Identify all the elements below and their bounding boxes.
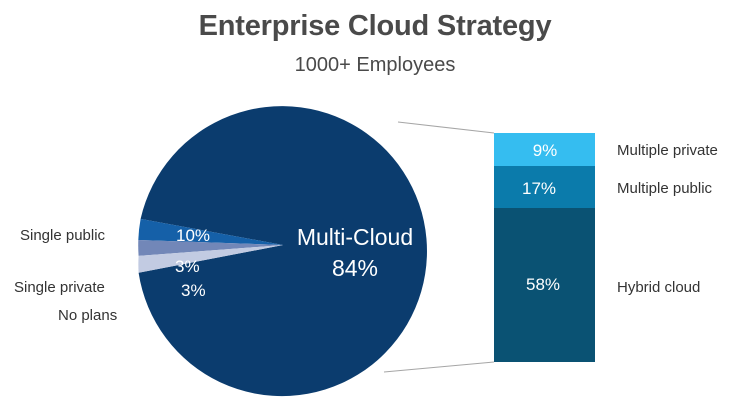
- pie-chart: Multi-Cloud 84% 10% 3% 3%: [138, 106, 427, 396]
- pie-outside-labels: Single public Single private No plans: [14, 227, 117, 324]
- leader-line-top: [398, 122, 494, 133]
- pie-value-single-private: 3%: [175, 257, 200, 276]
- breakout-stacked-bar: 9% 17% 58%: [494, 133, 595, 362]
- pie-center-label: Multi-Cloud: [297, 224, 413, 250]
- bar-value-multiple-private: 9%: [533, 141, 558, 160]
- bar-value-multiple-public: 17%: [522, 179, 556, 198]
- pie-label-no-plans: No plans: [58, 307, 117, 324]
- breakout-bar-labels: Multiple private Multiple public Hybrid …: [617, 142, 718, 296]
- enterprise-cloud-strategy-chart: Multi-Cloud 84% 10% 3% 3% Single public …: [0, 0, 750, 417]
- pie-center-value: 84%: [332, 255, 378, 281]
- pie-label-single-public: Single public: [20, 227, 106, 244]
- bar-label-multiple-public: Multiple public: [617, 180, 713, 197]
- leader-line-bottom: [384, 362, 494, 372]
- bar-value-hybrid-cloud: 58%: [526, 275, 560, 294]
- pie-label-single-private: Single private: [14, 279, 105, 296]
- bar-label-multiple-private: Multiple private: [617, 142, 718, 159]
- pie-value-no-plans: 3%: [181, 281, 206, 300]
- pie-value-single-public: 10%: [176, 226, 210, 245]
- bar-label-hybrid-cloud: Hybrid cloud: [617, 279, 700, 296]
